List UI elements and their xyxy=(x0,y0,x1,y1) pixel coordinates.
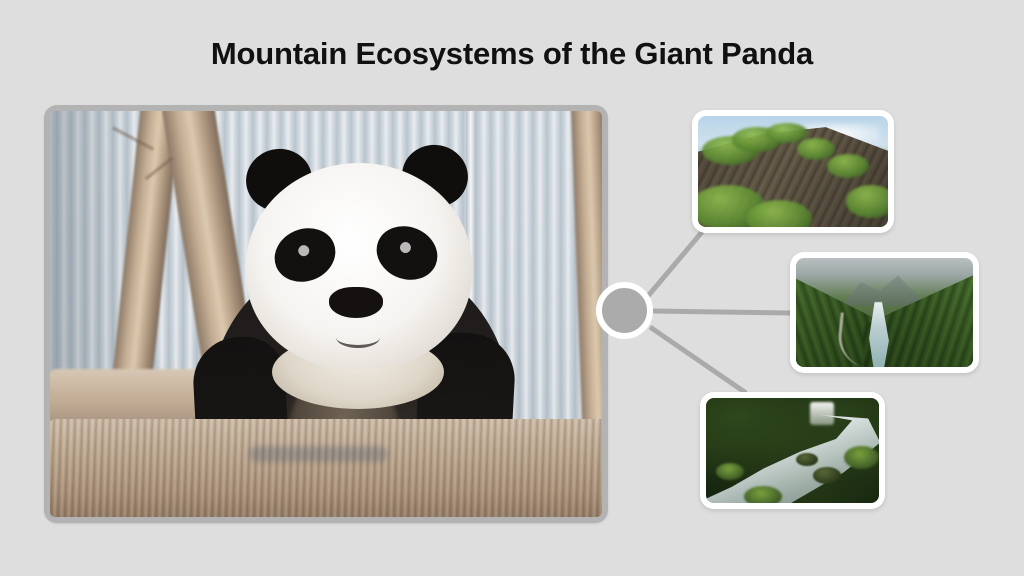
thumbnail-photo xyxy=(796,258,973,367)
connector-to-thumb-2 xyxy=(652,311,792,313)
thumbnail-rocky-mountain-cliff[interactable] xyxy=(692,110,894,233)
hero-image-frame[interactable] xyxy=(44,105,608,523)
giant-panda-photo xyxy=(50,111,602,517)
gorge-scene xyxy=(796,258,973,367)
thumbnail-forested-river-gorge[interactable] xyxy=(790,252,979,373)
stream-rock xyxy=(813,467,841,484)
foreground-log xyxy=(50,419,602,517)
vegetation xyxy=(766,123,808,143)
connector-to-thumb-1 xyxy=(648,232,702,296)
slide-canvas: Mountain Ecosystems of the Giant Panda xyxy=(0,0,1024,576)
thumbnail-photo xyxy=(698,116,888,227)
vegetation xyxy=(827,154,869,178)
cliff-scene xyxy=(698,116,888,227)
mossy-bank xyxy=(744,486,782,503)
thumbnail-photo xyxy=(706,398,879,503)
vegetation xyxy=(846,185,888,218)
thumbnail-forest-stream[interactable] xyxy=(700,392,885,509)
connector-to-thumb-3 xyxy=(650,327,746,393)
distant-mountain xyxy=(842,269,927,306)
mossy-bank xyxy=(716,463,744,480)
waterfall xyxy=(810,402,834,425)
panda-eye xyxy=(297,243,311,257)
connector-hub[interactable] xyxy=(596,282,653,339)
panda-eye xyxy=(398,240,412,254)
panda-mouth xyxy=(336,327,380,348)
stream-scene xyxy=(706,398,879,503)
page-title: Mountain Ecosystems of the Giant Panda xyxy=(0,36,1024,72)
panda-nose xyxy=(329,287,383,318)
